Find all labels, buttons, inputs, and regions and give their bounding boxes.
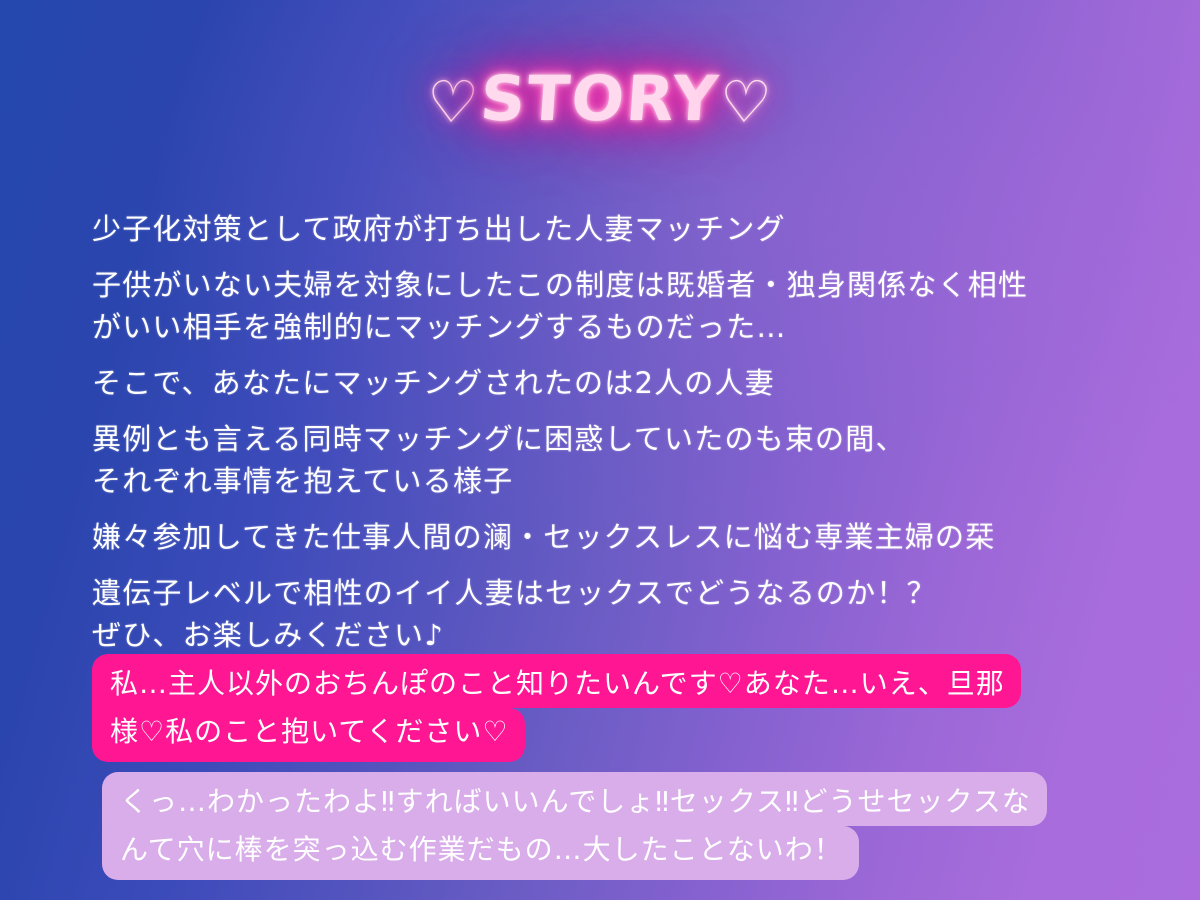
story-line: 異例とも言える同時マッチングに困惑していたのも束の間、	[92, 418, 1112, 460]
heart-icon-right: ♡	[717, 68, 776, 136]
story-paragraph: 嫌々参加してきた仕事人間の澜・セックスレスに悩む専業主婦の栞	[92, 516, 1112, 558]
page-title: ♡STORY♡	[0, 62, 1200, 136]
story-paragraph: そこで、あなたにマッチングされたのは2人の人妻	[92, 362, 1112, 404]
story-line: 遺伝子レベルで相性のイイ人妻はセックスでどうなるのか！？	[92, 572, 1112, 614]
story-line: そこで、あなたにマッチングされたのは2人の人妻	[92, 362, 1112, 404]
story-line: がいい相手を強制的にマッチングするものだった…	[92, 306, 1112, 348]
dialogue-line: んて穴に棒を突っ込む作業だもの…大したことないわ！	[102, 826, 859, 880]
story-paragraph: 異例とも言える同時マッチングに困惑していたのも束の間、 それぞれ事情を抱えている…	[92, 418, 1112, 502]
story-line: ぜひ、お楽しみください♪	[92, 614, 1112, 656]
story-paragraph: 遺伝子レベルで相性のイイ人妻はセックスでどうなるのか！？ ぜひ、お楽しみください…	[92, 572, 1112, 656]
story-paragraph: 子供がいない夫婦を対象にしたこの制度は既婚者・独身関係なく相性 がいい相手を強制…	[92, 264, 1112, 348]
dialogue-line: くっ…わかったわよ‼すればいいんでしょ‼セックス‼どうせセックスな	[102, 772, 1047, 826]
story-line: 少子化対策として政府が打ち出した人妻マッチング	[92, 208, 1112, 250]
story-page: ♡STORY♡ 少子化対策として政府が打ち出した人妻マッチング 子供がいない夫婦…	[0, 0, 1200, 900]
story-body: 少子化対策として政府が打ち出した人妻マッチング 子供がいない夫婦を対象にしたこの…	[92, 208, 1112, 656]
story-line: 嫌々参加してきた仕事人間の澜・セックスレスに悩む専業主婦の栞	[92, 516, 1112, 558]
story-paragraph: 少子化対策として政府が打ち出した人妻マッチング	[92, 208, 1112, 250]
story-line: それぞれ事情を抱えている様子	[92, 460, 1112, 502]
heart-icon-left: ♡	[424, 68, 483, 136]
dialogue-list: 私…主人以外のおちんぽのこと知りたいんです♡あなた…いえ、旦那 様♡私のこと抱い…	[92, 654, 1132, 890]
dialogue-bubble-pink: 私…主人以外のおちんぽのこと知りたいんです♡あなた…いえ、旦那 様♡私のこと抱い…	[92, 654, 1132, 762]
dialogue-line: 私…主人以外のおちんぽのこと知りたいんです♡あなた…いえ、旦那	[92, 654, 1021, 708]
dialogue-bubble-lilac: くっ…わかったわよ‼すればいいんでしょ‼セックス‼どうせセックスな んて穴に棒を…	[102, 772, 1132, 880]
story-line: 子供がいない夫婦を対象にしたこの制度は既婚者・独身関係なく相性	[92, 264, 1112, 306]
title-word: STORY	[478, 62, 722, 135]
dialogue-line: 様♡私のこと抱いてください♡	[92, 708, 525, 762]
